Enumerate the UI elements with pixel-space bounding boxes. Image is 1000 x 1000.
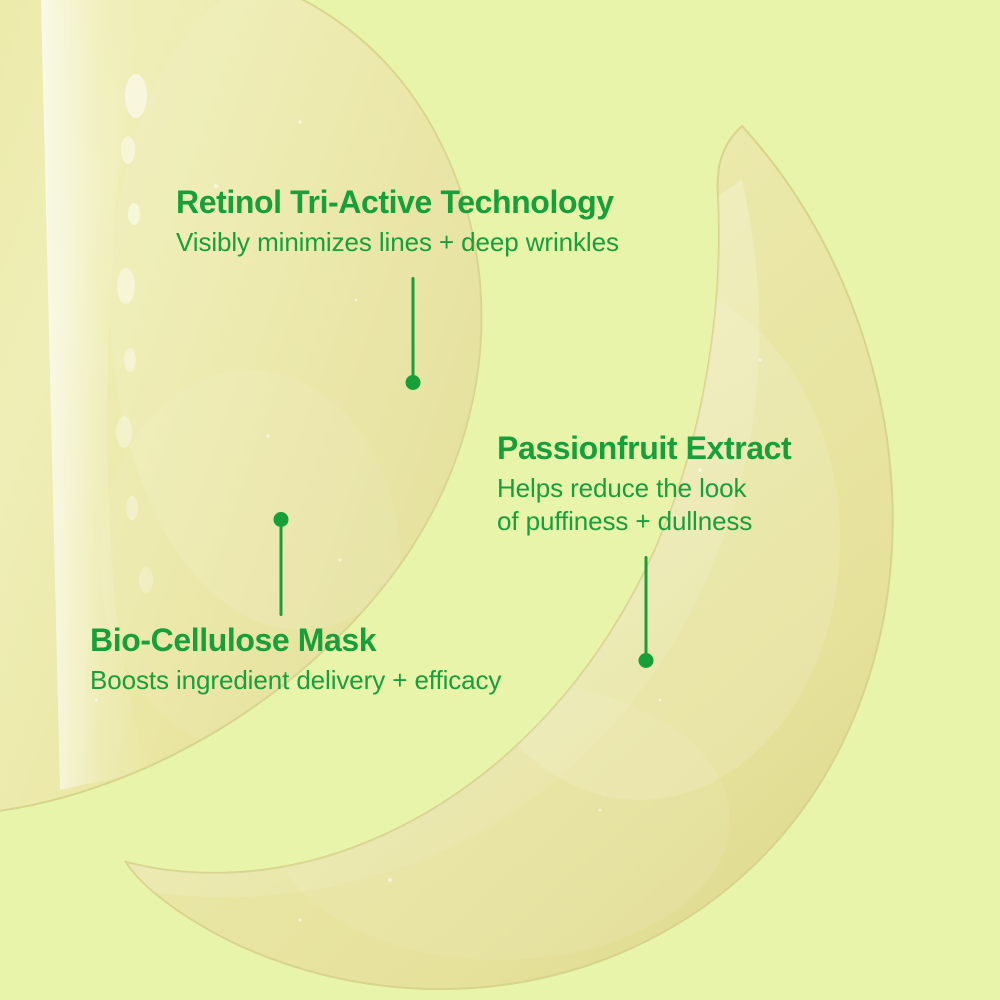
leader-stem-retinol <box>411 277 414 377</box>
callout-biocellulose-description-line-1: Boosts ingredient delivery + efficacy <box>90 664 501 697</box>
callout-retinol: Retinol Tri-Active Technology Visibly mi… <box>176 184 619 259</box>
leader-dot-retinol <box>405 375 420 390</box>
callout-retinol-description-line-1: Visibly minimizes lines + deep wrinkles <box>176 226 619 259</box>
callout-retinol-title: Retinol Tri-Active Technology <box>176 184 619 222</box>
callout-passionfruit-description: Helps reduce the look of puffiness + dul… <box>497 472 791 539</box>
leader-stem-passionfruit <box>644 556 647 655</box>
leader-line-biocellulose <box>273 512 288 616</box>
callout-passionfruit: Passionfruit Extract Helps reduce the lo… <box>497 430 791 538</box>
leader-line-retinol <box>405 277 420 390</box>
callout-passionfruit-title: Passionfruit Extract <box>497 430 791 468</box>
callout-passionfruit-description-line-1: Helps reduce the look <box>497 472 791 505</box>
callout-biocellulose-description: Boosts ingredient delivery + efficacy <box>90 664 501 697</box>
leader-dot-passionfruit <box>638 653 653 668</box>
product-infographic: Retinol Tri-Active Technology Visibly mi… <box>0 0 1000 1000</box>
leader-line-passionfruit <box>638 556 653 668</box>
callout-passionfruit-description-line-2: of puffiness + dullness <box>497 505 791 538</box>
leader-stem-biocellulose <box>279 525 282 616</box>
callout-biocellulose-title: Bio-Cellulose Mask <box>90 622 501 660</box>
callout-retinol-description: Visibly minimizes lines + deep wrinkles <box>176 226 619 259</box>
callout-biocellulose: Bio-Cellulose Mask Boosts ingredient del… <box>90 622 501 697</box>
leader-dot-biocellulose <box>273 512 288 527</box>
